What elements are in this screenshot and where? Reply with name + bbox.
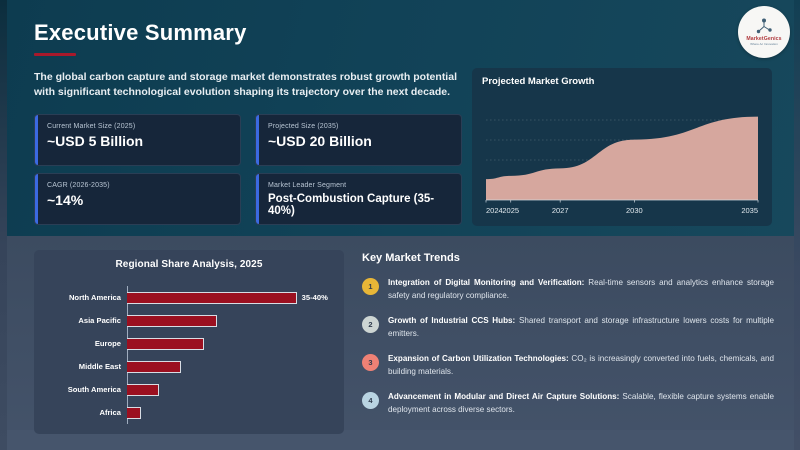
- executive-subtitle: The global carbon capture and storage ma…: [34, 70, 464, 100]
- bar-track: [127, 309, 334, 332]
- kpi-value: ~USD 20 Billion: [268, 133, 451, 149]
- bar-category-label: North America: [44, 293, 127, 302]
- trends-title: Key Market Trends: [362, 252, 782, 264]
- bar-value-label: 35-40%: [302, 293, 328, 302]
- background-left-edge: [0, 0, 7, 450]
- trend-number-badge: 2: [362, 316, 379, 333]
- bar-category-label: Africa: [44, 408, 127, 417]
- trend-text: Integration of Digital Monitoring and Ve…: [388, 277, 774, 302]
- growth-x-tick: 2025: [502, 206, 519, 215]
- kpi-label: Current Market Size (2025): [47, 123, 230, 130]
- key-market-trends-panel: Key Market Trends 1Integration of Digita…: [362, 252, 782, 429]
- trend-number-badge: 1: [362, 278, 379, 295]
- bar-row: South America: [44, 378, 334, 401]
- regional-share-panel: Regional Share Analysis, 2025 North Amer…: [34, 250, 344, 434]
- trend-item-4[interactable]: 4Advancement in Modular and Direct Air C…: [362, 391, 782, 416]
- bar-row: North America35-40%: [44, 286, 334, 309]
- trend-text: Advancement in Modular and Direct Air Ca…: [388, 391, 774, 416]
- kpi-card-projected-size[interactable]: Projected Size (2035) ~USD 20 Billion: [255, 114, 462, 166]
- growth-x-tick: 2030: [626, 206, 643, 215]
- bar-track: [127, 332, 334, 355]
- bar-fill: [127, 407, 141, 419]
- trend-list: 1Integration of Digital Monitoring and V…: [362, 277, 782, 416]
- bar-track: [127, 401, 334, 424]
- trend-heading: Integration of Digital Monitoring and Ve…: [388, 278, 584, 287]
- logo-name: MarketGenics: [746, 36, 781, 42]
- kpi-label: Market Leader Segment: [268, 182, 451, 189]
- trend-number-badge: 3: [362, 354, 379, 371]
- growth-area-chart: 20242025202720302035: [482, 94, 762, 216]
- bar-category-label: Middle East: [44, 362, 127, 371]
- trend-heading: Growth of Industrial CCS Hubs:: [388, 316, 515, 325]
- kpi-card-market-leader-segment[interactable]: Market Leader Segment Post-Combustion Ca…: [255, 173, 462, 225]
- bar-fill: [127, 292, 297, 304]
- trend-item-2[interactable]: 2Growth of Industrial CCS Hubs: Shared t…: [362, 315, 782, 340]
- bar-track: [127, 355, 334, 378]
- kpi-card-current-market-size[interactable]: Current Market Size (2025) ~USD 5 Billio…: [34, 114, 241, 166]
- bar-track: 35-40%: [127, 286, 334, 309]
- kpi-value: Post-Combustion Capture (35-40%): [268, 193, 451, 217]
- logo-tagline: Where Ac Innovation: [750, 42, 778, 46]
- kpi-value: ~14%: [47, 192, 230, 208]
- trend-item-1[interactable]: 1Integration of Digital Monitoring and V…: [362, 277, 782, 302]
- regional-bar-chart: North America35-40%Asia PacificEuropeMid…: [44, 286, 334, 424]
- page-title: Executive Summary: [34, 20, 247, 46]
- title-underline-rule: [34, 53, 76, 56]
- kpi-label: Projected Size (2035): [268, 123, 451, 130]
- growth-x-tick: 2027: [552, 206, 569, 215]
- bar-row: Middle East: [44, 355, 334, 378]
- regional-chart-title: Regional Share Analysis, 2025: [44, 259, 334, 270]
- trend-heading: Expansion of Carbon Utilization Technolo…: [388, 354, 569, 363]
- background-right-edge: [794, 0, 800, 450]
- trend-heading: Advancement in Modular and Direct Air Ca…: [388, 392, 619, 401]
- trend-text: Growth of Industrial CCS Hubs: Shared tr…: [388, 315, 774, 340]
- bar-category-label: South America: [44, 385, 127, 394]
- bar-row: Asia Pacific: [44, 309, 334, 332]
- company-logo: MarketGenics Where Ac Innovation: [738, 6, 790, 58]
- kpi-card-grid: Current Market Size (2025) ~USD 5 Billio…: [34, 114, 462, 225]
- trend-text: Expansion of Carbon Utilization Technolo…: [388, 353, 774, 378]
- growth-chart-title: Projected Market Growth: [482, 76, 762, 87]
- kpi-label: CAGR (2026-2035): [47, 182, 230, 189]
- bar-category-label: Asia Pacific: [44, 316, 127, 325]
- bar-fill: [127, 361, 181, 373]
- molecule-icon: [754, 18, 774, 35]
- bar-track: [127, 378, 334, 401]
- bar-row: Europe: [44, 332, 334, 355]
- bar-row: Africa: [44, 401, 334, 424]
- growth-x-tick: 2024: [486, 206, 503, 215]
- header: Executive Summary: [34, 20, 247, 56]
- kpi-value: ~USD 5 Billion: [47, 133, 230, 149]
- growth-x-tick: 2035: [741, 206, 758, 215]
- trend-number-badge: 4: [362, 392, 379, 409]
- trend-item-3[interactable]: 3Expansion of Carbon Utilization Technol…: [362, 353, 782, 378]
- bar-fill: [127, 338, 204, 350]
- kpi-card-cagr[interactable]: CAGR (2026-2035) ~14%: [34, 173, 241, 225]
- bar-category-label: Europe: [44, 339, 127, 348]
- bar-fill: [127, 384, 159, 396]
- projected-market-growth-panel: Projected Market Growth 2024202520272030…: [472, 68, 772, 226]
- bar-fill: [127, 315, 217, 327]
